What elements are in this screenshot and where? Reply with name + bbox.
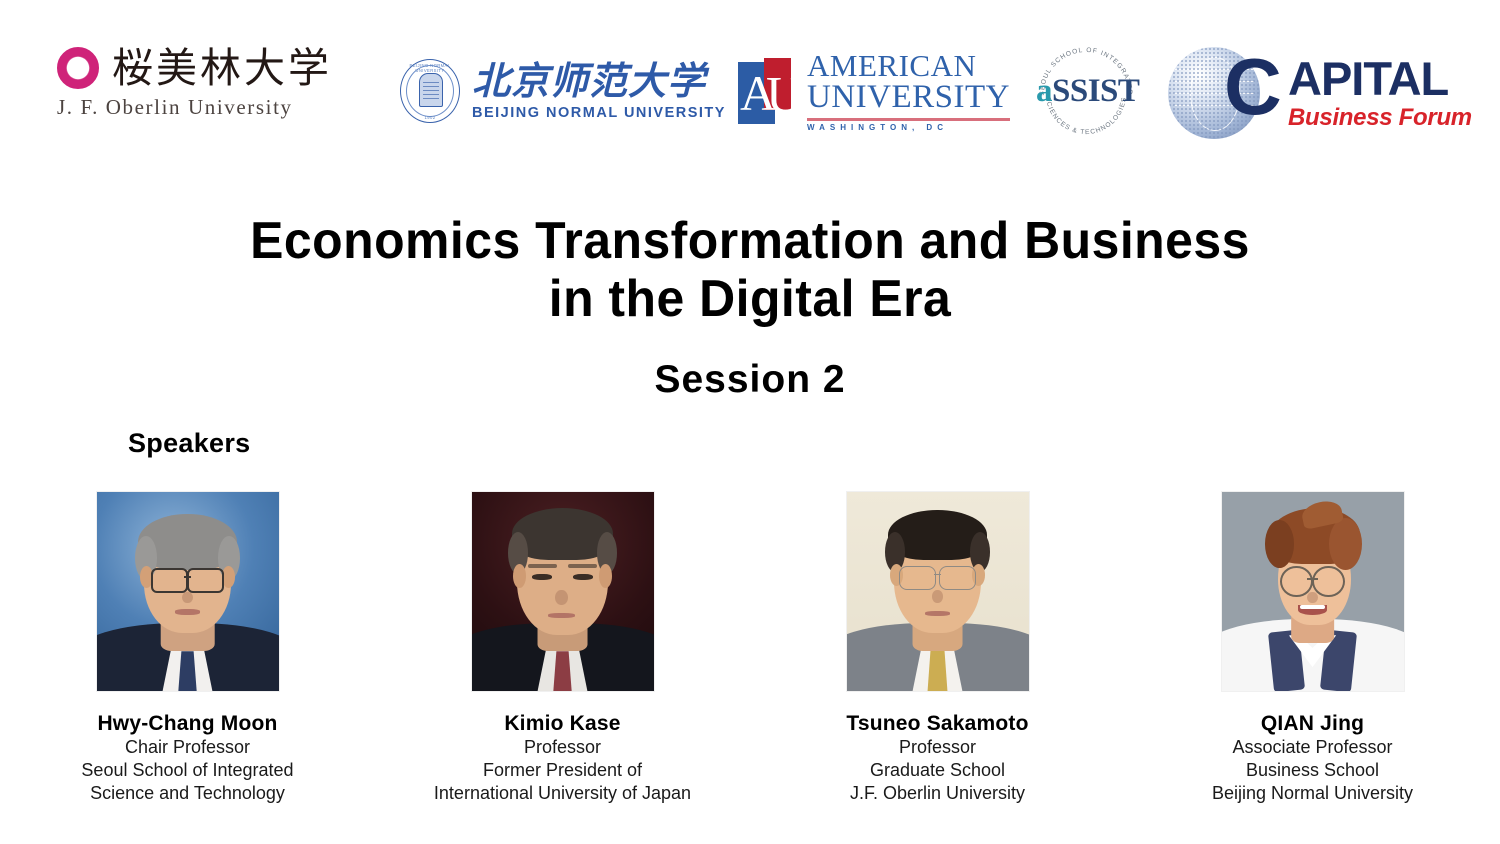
speaker-title: Associate Professor <box>1212 736 1413 759</box>
assist-logo: SEOUL SCHOOL OF INTEGRATED SCIENCES & TE… <box>1024 42 1148 142</box>
session-heading: Session 2 <box>0 358 1500 402</box>
speaker-name: Tsuneo Sakamoto <box>846 711 1028 736</box>
speaker-affiliation-line2: Science and Technology <box>81 782 293 805</box>
jf-oberlin-university-logo: 桜美林大学 J. F. Oberlin University <box>57 47 377 131</box>
assist-wordmark: aSSIST <box>1036 75 1136 108</box>
university-seal-icon: BEIJING NORMAL UNIVERSITY 1902 <box>400 59 460 123</box>
speaker-affiliation-line2: International University of Japan <box>434 782 691 805</box>
page-title-line1: Economics Transformation and Business <box>30 212 1470 270</box>
capital-initial-c: C <box>1224 47 1282 127</box>
speaker-affiliation-line1: Former President of <box>434 759 691 782</box>
speaker-caption: Hwy-Chang Moon Chair Professor Seoul Sch… <box>81 711 293 805</box>
sakura-flower-icon <box>57 47 99 89</box>
portrait-tsuneo-sakamoto <box>847 492 1029 691</box>
speaker-affiliation-line1: Seoul School of Integrated <box>81 759 293 782</box>
au-location-text: WASHINGTON, DC <box>807 123 1010 132</box>
speaker-affiliation-line2: J.F. Oberlin University <box>846 782 1028 805</box>
circular-seal-icon: SEOUL SCHOOL OF INTEGRATED SCIENCES & TE… <box>1036 42 1136 142</box>
speaker-caption: Kimio Kase Professor Former President of… <box>434 711 691 805</box>
bnu-text-block: 北京师范大学 BEIJING NORMAL UNIVERSITY <box>472 62 726 121</box>
speaker-affiliation-line1: Graduate School <box>846 759 1028 782</box>
partner-logo-bar: 桜美林大学 J. F. Oberlin University BEIJING N… <box>0 0 1500 160</box>
speaker-caption: Tsuneo Sakamoto Professor Graduate Schoo… <box>846 711 1028 805</box>
assist-wordmark-rest: SSIST <box>1052 73 1139 109</box>
portrait-kimio-kase <box>472 492 654 691</box>
capital-text-block: APITAL Business Forum <box>1288 55 1472 131</box>
portrait-qian-jing <box>1222 492 1404 691</box>
page-title-line2: in the Digital Era <box>30 270 1470 328</box>
oberlin-japanese-name: 桜美林大学 <box>112 48 332 89</box>
au-line-american: AMERICAN <box>807 50 1010 82</box>
speaker-title: Professor <box>434 736 691 759</box>
capital-business-forum-logo: C APITAL Business Forum <box>1168 44 1478 142</box>
speaker-title: Chair Professor <box>81 736 293 759</box>
capital-subtitle: Business Forum <box>1288 105 1472 131</box>
speaker-title: Professor <box>846 736 1028 759</box>
speaker-card: Hwy-Chang Moon Chair Professor Seoul Sch… <box>0 492 375 805</box>
capital-title: APITAL <box>1288 55 1472 102</box>
assist-wordmark-a: a <box>1036 73 1052 109</box>
speaker-affiliation-line2: Beijing Normal University <box>1212 782 1413 805</box>
seal-arc-text-bottom: 1902 <box>401 115 459 120</box>
speaker-name: Hwy-Chang Moon <box>81 711 293 736</box>
au-line-university: UNIVERSITY <box>807 81 1010 115</box>
speaker-name: QIAN Jing <box>1212 711 1413 736</box>
oberlin-english-name: J. F. Oberlin University <box>57 95 293 120</box>
speaker-name: Kimio Kase <box>434 711 691 736</box>
speaker-card: QIAN Jing Associate Professor Business S… <box>1125 492 1500 805</box>
au-divider-rule <box>807 118 1010 121</box>
speaker-card: Kimio Kase Professor Former President of… <box>375 492 750 805</box>
speakers-section-label: Speakers <box>128 428 251 459</box>
speaker-card: Tsuneo Sakamoto Professor Graduate Schoo… <box>750 492 1125 805</box>
bnu-chinese-name: 北京师范大学 <box>472 62 726 100</box>
american-university-logo: A U AMERICAN UNIVERSITY WASHINGTON, DC <box>738 55 1003 127</box>
speaker-affiliation-line1: Business School <box>1212 759 1413 782</box>
au-text-block: AMERICAN UNIVERSITY WASHINGTON, DC <box>807 50 1010 132</box>
beijing-normal-university-logo: BEIJING NORMAL UNIVERSITY 1902 北京师范大学 BE… <box>400 54 705 128</box>
seal-arc-text-top: BEIJING NORMAL UNIVERSITY <box>401 63 459 73</box>
portrait-hwy-chang-moon <box>97 492 279 691</box>
au-monogram-icon: A U <box>738 58 798 124</box>
page-title-block: Economics Transformation and Business in… <box>0 212 1500 328</box>
oberlin-logo-row: 桜美林大学 <box>57 47 332 89</box>
speaker-caption: QIAN Jing Associate Professor Business S… <box>1212 711 1413 805</box>
speakers-row: Hwy-Chang Moon Chair Professor Seoul Sch… <box>0 492 1500 805</box>
bnu-english-name: BEIJING NORMAL UNIVERSITY <box>472 105 726 121</box>
